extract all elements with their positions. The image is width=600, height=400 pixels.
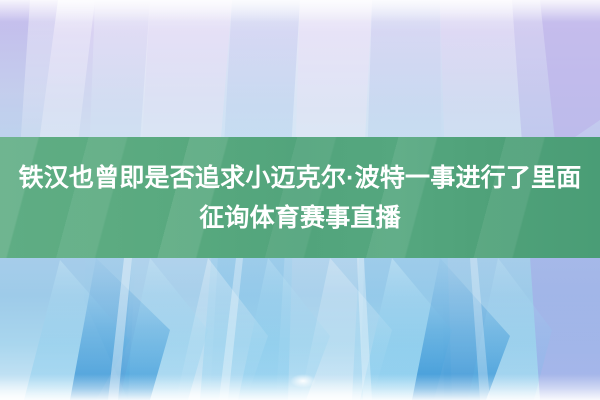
banner-image: 铁汉也曾即是否追求小迈克尔·波特一事进行了里面征询体育赛事直播 [0, 0, 600, 400]
caption-band: 铁汉也曾即是否追求小迈克尔·波特一事进行了里面征询体育赛事直播 [0, 137, 600, 258]
banner-caption-text: 铁汉也曾即是否追求小迈克尔·波特一事进行了里面征询体育赛事直播 [10, 158, 590, 238]
